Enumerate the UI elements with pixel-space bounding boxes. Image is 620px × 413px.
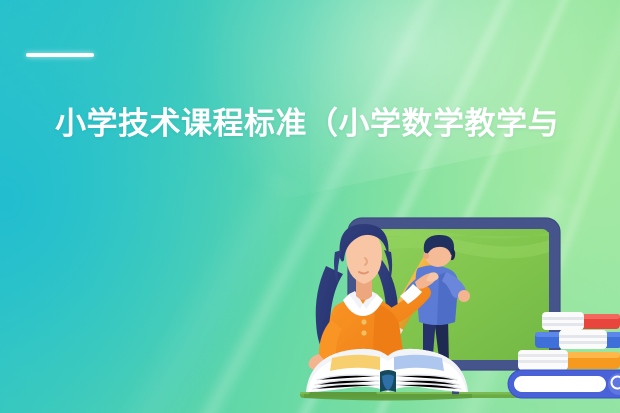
- decorative-rule: [26, 49, 94, 61]
- page-title: 小学技术课程标准（小学数学教学与: [55, 104, 585, 144]
- decorative-rule-bar: [26, 53, 94, 57]
- illustration: [286, 196, 620, 413]
- banner: 小学技术课程标准（小学数学教学与: [0, 0, 620, 413]
- search-bar: [508, 370, 620, 398]
- background-tint-cyan: [0, 0, 279, 413]
